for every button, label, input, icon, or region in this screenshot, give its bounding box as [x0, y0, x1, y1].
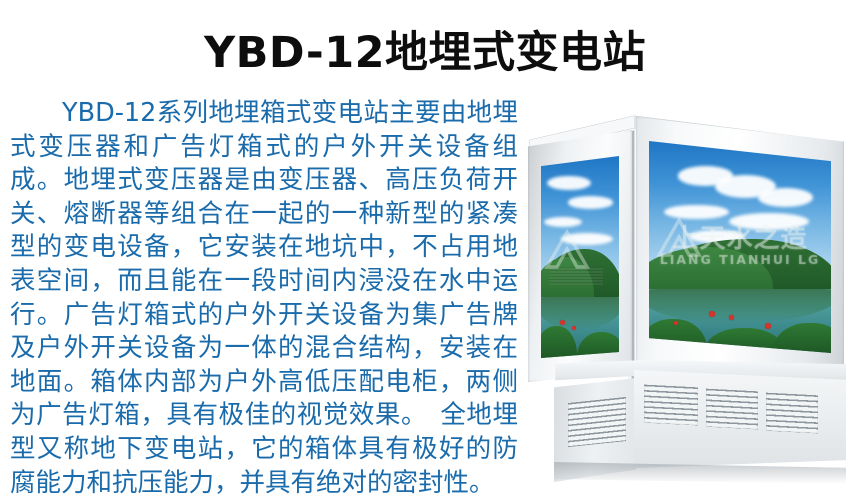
ventilation-louver: [568, 397, 626, 447]
page-title: YBD-12地埋式变电站: [0, 26, 850, 80]
ventilation-louver: [644, 385, 698, 426]
cloud-icon: [729, 213, 809, 230]
landscape-scene-right: 上天水之造 LIANG TIANHUI LG: [649, 141, 831, 353]
product-description-text: YBD-12系列地埋箱式变电站主要由地埋式变压器和广告灯箱式的户外开关设备组成。…: [10, 98, 518, 498]
substation-cabinet: 上天水之造 LIANG TIANHUI LG: [524, 112, 846, 450]
watermark-logo-icon: [544, 229, 590, 271]
cloud-icon: [568, 196, 613, 208]
product-description: YBD-12系列地埋箱式变电站主要由地埋式变压器和广告灯箱式的户外开关设备组成。…: [10, 97, 518, 500]
lightbox-panel-right: 上天水之造 LIANG TIANHUI LG: [636, 117, 844, 389]
page-root: YBD-12地埋式变电站 YBD-12系列地埋箱式变电站主要由地埋式变压器和广告…: [0, 0, 850, 503]
ventilation-louver: [706, 389, 758, 430]
lightbox-glass-left: [541, 156, 619, 358]
base-panel-front: [634, 370, 846, 468]
lantern-icon: [572, 326, 576, 330]
product-photo: 上天水之造 LIANG TIANHUI LG: [524, 112, 846, 450]
watermark-logo-icon: [656, 217, 702, 259]
lantern-icon: [729, 315, 734, 320]
lightbox-panel-left: [528, 130, 632, 382]
lightbox-glass-right: 上天水之造 LIANG TIANHUI LG: [649, 141, 831, 353]
lantern-icon: [560, 320, 565, 325]
base-ground-shadow: [554, 462, 846, 484]
lantern-icon: [709, 311, 715, 317]
cloud-icon: [758, 188, 813, 207]
landscape-scene-left: [541, 156, 619, 358]
ventilation-louver: [766, 393, 818, 434]
cloud-icon: [544, 217, 581, 227]
